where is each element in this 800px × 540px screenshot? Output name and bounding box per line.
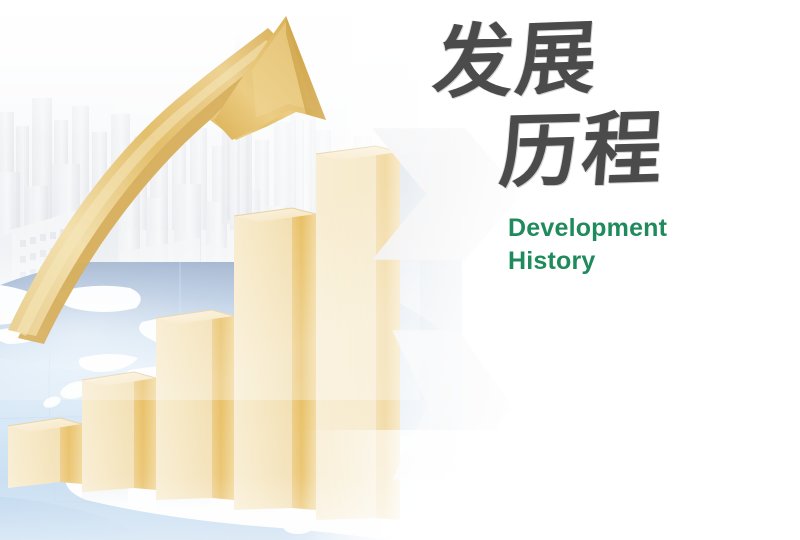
english-title-line-2: History (508, 245, 667, 278)
title-block: 发展 历程 Development History (432, 22, 762, 292)
english-title: Development History (508, 212, 667, 278)
bottom-white-fade (0, 430, 800, 540)
english-title-line-1: Development (508, 212, 667, 245)
chinese-title-line-2: 历程 (497, 112, 667, 190)
chinese-title-line-1: 发展 (430, 21, 601, 100)
development-history-banner: 发展 历程 Development History (0, 0, 800, 540)
